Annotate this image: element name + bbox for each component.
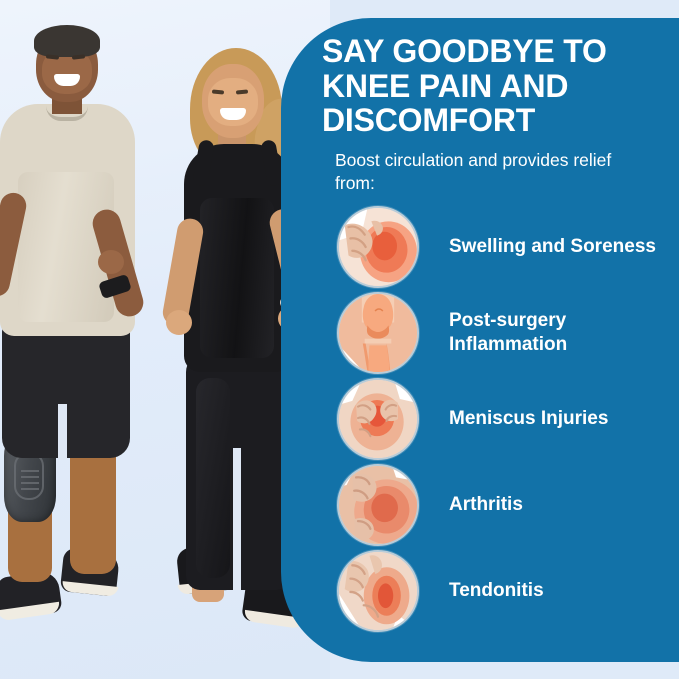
- knee-tendonitis-icon: [337, 550, 419, 632]
- list-item-label: Tendonitis: [449, 579, 544, 603]
- knee-sleeve-ribbing: [21, 488, 39, 490]
- woman-left-hand: [166, 310, 192, 335]
- knee-sleeve-ribbing: [21, 470, 39, 472]
- subtitle-text: Boost circulation and provides relief fr…: [335, 149, 635, 195]
- list-item-label: Swelling and Soreness: [449, 235, 656, 259]
- knee-joint-anatomy-icon: [337, 292, 419, 374]
- knee-sleeve-ribbing: [21, 476, 39, 478]
- knee-sleeve-ribbing: [21, 482, 39, 484]
- man-shorts-gap: [58, 404, 67, 460]
- woman-smile: [220, 108, 246, 120]
- list-item: Tendonitis: [337, 548, 667, 634]
- knee-arthritis-icon: [337, 464, 419, 546]
- list-item-label: Meniscus Injuries: [449, 407, 608, 431]
- list-item-label: Post-surgery Inflammation: [449, 309, 667, 358]
- knee-meniscus-icon: [337, 378, 419, 460]
- list-item: Post-surgery Inflammation: [337, 290, 667, 376]
- woman-leggings-highlight: [196, 378, 230, 578]
- woman-tank-top-highlight: [200, 198, 274, 358]
- man-right-hand: [98, 250, 124, 274]
- info-panel: Say goodbye to knee pain and discomfort …: [281, 18, 679, 662]
- list-item: Arthritis: [337, 462, 667, 548]
- list-item-label: Arthritis: [449, 493, 523, 517]
- man-hair: [34, 25, 100, 57]
- benefits-list: Swelling and Soreness: [337, 204, 667, 634]
- knee-swelling-icon: [337, 206, 419, 288]
- man-smile: [54, 74, 80, 86]
- product-advertisement: Say goodbye to knee pain and discomfort …: [0, 0, 679, 679]
- list-item: Swelling and Soreness: [337, 204, 667, 290]
- list-item: Meniscus Injuries: [337, 376, 667, 462]
- page-title: Say goodbye to knee pain and discomfort: [322, 34, 666, 138]
- woman-leggings-gap: [233, 448, 241, 590]
